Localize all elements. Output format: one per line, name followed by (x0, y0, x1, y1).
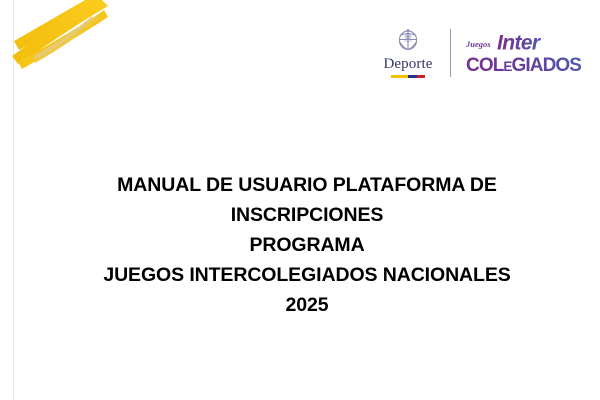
deporte-logo: Deporte (372, 28, 444, 78)
inter-wordmark: Inter (497, 32, 542, 55)
header-logo-band: Deporte Juegos Inter (372, 18, 584, 88)
colombia-flag-bar (391, 75, 425, 78)
title-line-3: PROGRAMA (14, 230, 600, 260)
title-line-5: 2025 (14, 290, 600, 320)
intercolegiados-logo: Juegos Inter COLEGIADOS (465, 27, 581, 79)
swoosh-stroke-5 (34, 16, 93, 59)
colombia-coat-of-arms-emblem (395, 28, 421, 56)
page-title: MANUAL DE USUARIO PLATAFORMA DE INSCRIPC… (14, 170, 600, 320)
swoosh-stroke-3 (18, 10, 108, 69)
logo-divider (450, 29, 451, 77)
title-line-2: INSCRIPCIONES (14, 200, 600, 230)
deporte-wordmark: Deporte (383, 57, 432, 72)
juegos-script-word: Juegos (465, 39, 491, 49)
yellow-swoosh-decoration (0, 0, 200, 130)
swoosh-stroke-4 (32, 14, 100, 63)
swoosh-stroke-1 (12, 0, 108, 64)
colegiados-wordmark: COLEGIADOS (466, 55, 581, 76)
title-line-1: MANUAL DE USUARIO PLATAFORMA DE (14, 170, 600, 200)
document-page: Deporte Juegos Inter (0, 0, 600, 400)
title-line-4: JUEGOS INTERCOLEGIADOS NACIONALES (14, 260, 600, 290)
swoosh-stroke-2 (14, 0, 102, 50)
